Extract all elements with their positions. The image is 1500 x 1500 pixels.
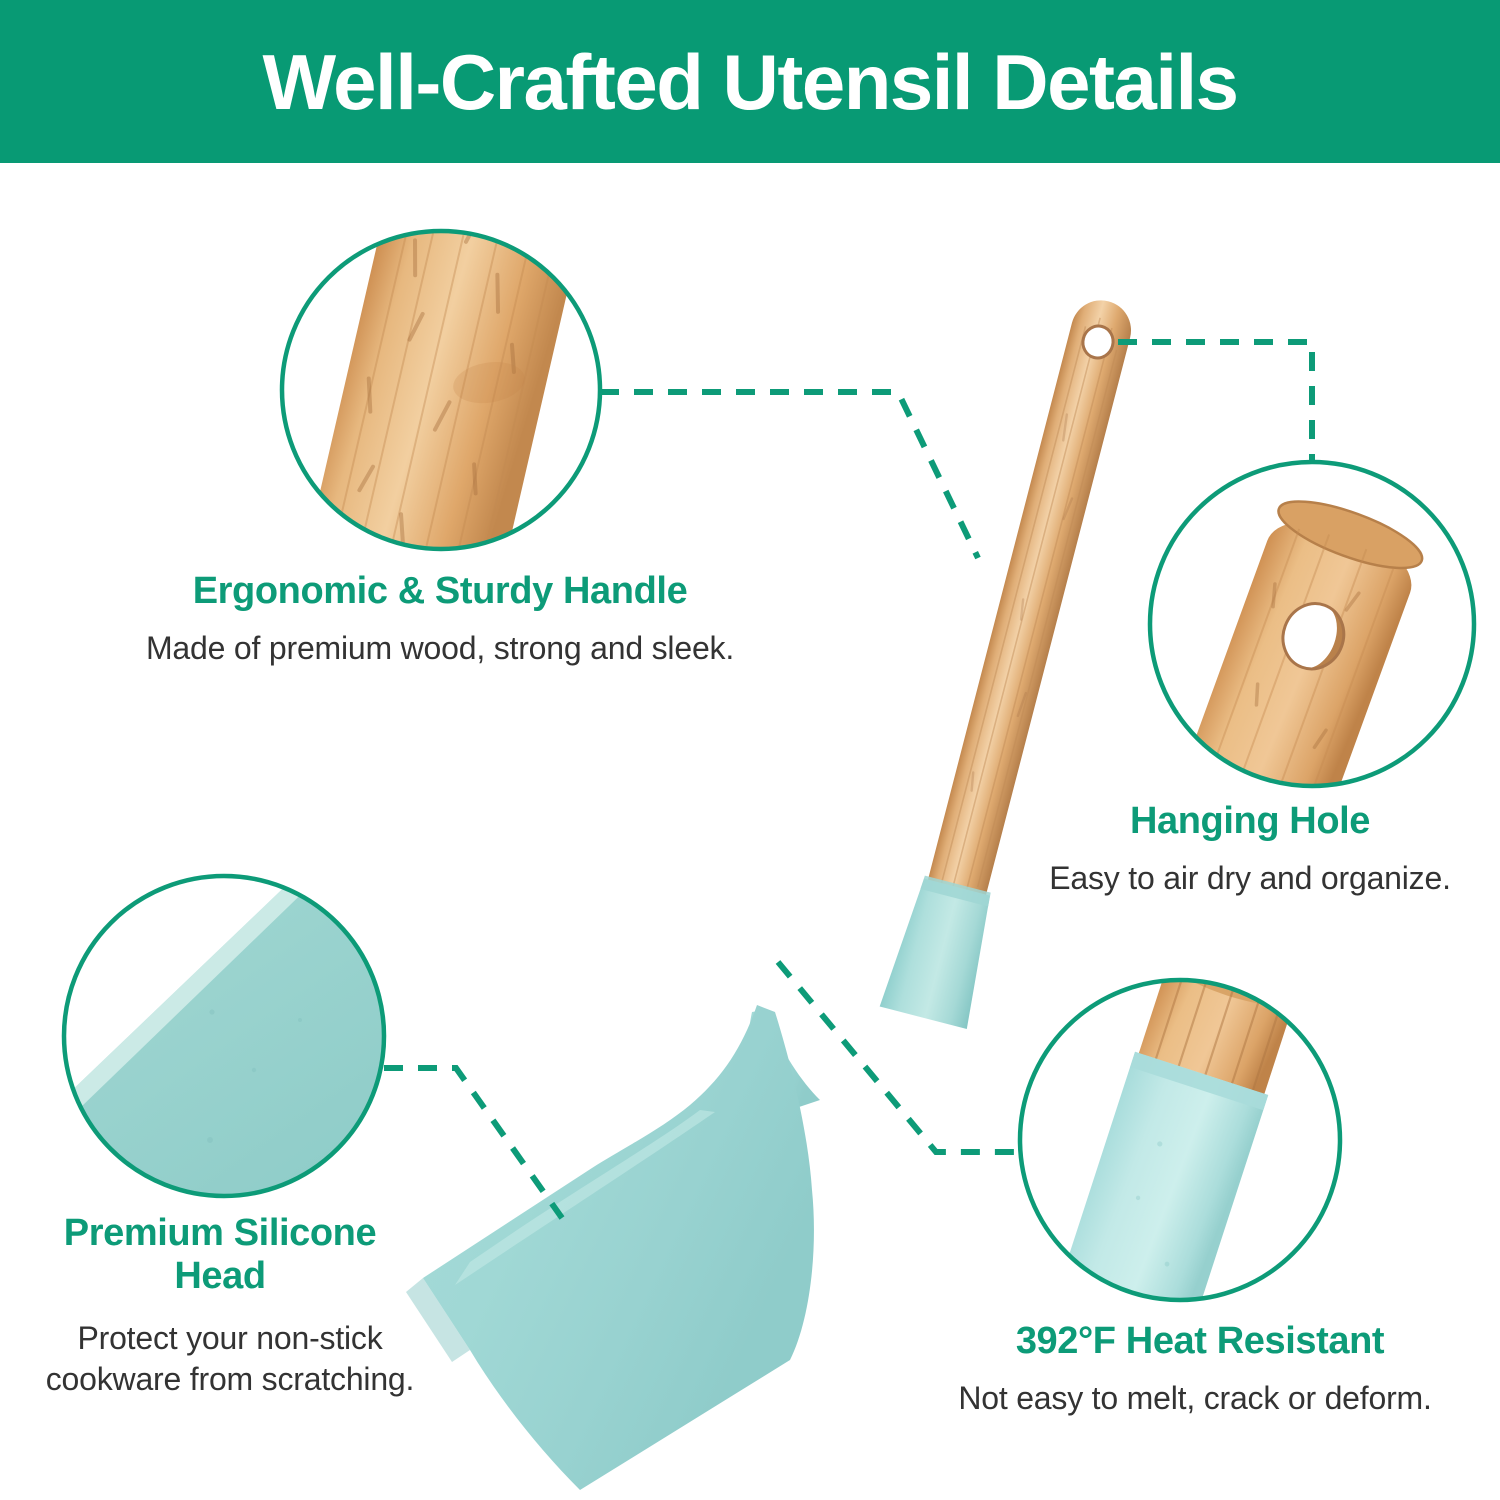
leader-line-head xyxy=(384,1068,562,1218)
zoom-circle-silicone-head xyxy=(64,876,384,1196)
hanging-hole-detail xyxy=(1274,595,1353,678)
header-banner: Well-Crafted Utensil Details xyxy=(0,0,1500,163)
callout-description-hanging-hole: Easy to air dry and organize. xyxy=(1000,858,1500,899)
silicone-neck xyxy=(747,1010,820,1120)
callout-title-heat-resistant: 392°F Heat Resistant xyxy=(900,1320,1500,1363)
callout-title-silicone-head-line2: Head xyxy=(174,1255,265,1297)
zoom-circle-heat-resistant xyxy=(1020,943,1340,1344)
callout-description-ergonomic-handle: Made of premium wood, strong and sleek. xyxy=(0,628,880,669)
callout-description-heat-resistant: Not easy to melt, crack or deform. xyxy=(890,1378,1500,1419)
leader-line-heat xyxy=(778,962,1020,1152)
silicone-blade xyxy=(423,1005,814,1490)
callout-title-hanging-hole: Hanging Hole xyxy=(1000,800,1500,843)
page-title: Well-Crafted Utensil Details xyxy=(262,43,1237,121)
silicone-collar xyxy=(880,873,1002,1029)
callout-title-silicone-head-line1: Premium Silicone xyxy=(64,1212,376,1254)
callout-title-silicone-head: Premium Silicone Head xyxy=(0,1212,440,1297)
infographic-page: Well-Crafted Utensil Details xyxy=(0,0,1500,1500)
callout-description-silicone-head-line1: Protect your non-stick xyxy=(77,1320,382,1356)
leader-line-hole xyxy=(1118,342,1312,462)
zoom-circle-hanging-hole xyxy=(1150,462,1474,856)
leader-line-handle xyxy=(600,392,978,558)
callout-title-ergonomic-handle: Ergonomic & Sturdy Handle xyxy=(0,570,880,613)
callout-description-silicone-head-line2: cookware from scratching. xyxy=(46,1361,414,1397)
callout-description-silicone-head: Protect your non-stick cookware from scr… xyxy=(0,1318,460,1400)
hanging-hole xyxy=(1079,323,1116,361)
